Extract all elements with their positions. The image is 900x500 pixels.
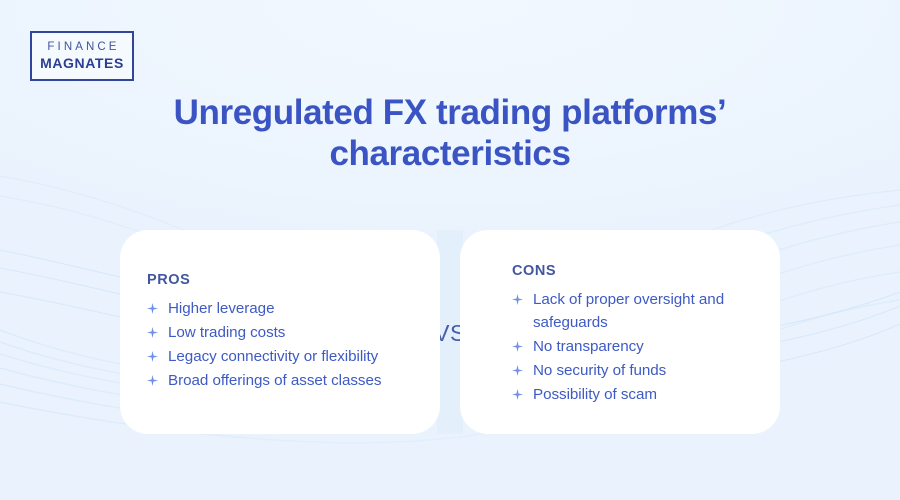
four-point-star-icon [512, 341, 523, 352]
four-point-star-icon [147, 375, 158, 386]
list-item: No security of funds [512, 359, 758, 382]
four-point-star-icon [512, 365, 523, 376]
pros-list: Higher leverage Low trading costs Legacy… [147, 297, 418, 392]
four-point-star-icon [147, 303, 158, 314]
list-item: Low trading costs [147, 321, 418, 344]
list-item: Legacy connectivity or flexibility [147, 345, 418, 368]
cons-list: Lack of proper oversight and safeguards … [512, 288, 758, 406]
four-point-star-icon [147, 351, 158, 362]
list-item: Lack of proper oversight and safeguards [512, 288, 758, 334]
logo-word-finance: FINANCE [44, 41, 119, 54]
page-title: Unregulated FX trading platforms’ charac… [0, 93, 900, 175]
list-item-label: No security of funds [533, 362, 666, 379]
list-item: Possibility of scam [512, 383, 758, 406]
cons-card: CONS Lack of proper oversight and safegu… [460, 230, 780, 434]
list-item: No transparency [512, 335, 758, 358]
list-item-label: Low trading costs [168, 324, 285, 341]
list-item-label: Possibility of scam [533, 386, 657, 403]
list-item-label: No transparency [533, 338, 644, 355]
brand-logo[interactable]: FINANCE MAGNATES [30, 31, 134, 81]
four-point-star-icon [147, 327, 158, 338]
list-item: Higher leverage [147, 297, 418, 320]
cons-heading: CONS [512, 263, 758, 279]
list-item-label: Legacy connectivity or flexibility [168, 348, 378, 365]
infographic-canvas: FINANCE MAGNATES Unregulated FX trading … [0, 0, 900, 500]
four-point-star-icon [512, 389, 523, 400]
pros-card: PROS Higher leverage Low trading costs L… [120, 230, 440, 434]
logo-word-magnates: MAGNATES [40, 55, 124, 71]
pros-heading: PROS [147, 272, 418, 288]
list-item: Broad offerings of asset classes [147, 369, 418, 392]
four-point-star-icon [512, 294, 523, 305]
list-item-label: Broad offerings of asset classes [168, 372, 381, 389]
list-item-label: Lack of proper oversight and safeguards [533, 291, 724, 331]
list-item-label: Higher leverage [168, 300, 274, 317]
